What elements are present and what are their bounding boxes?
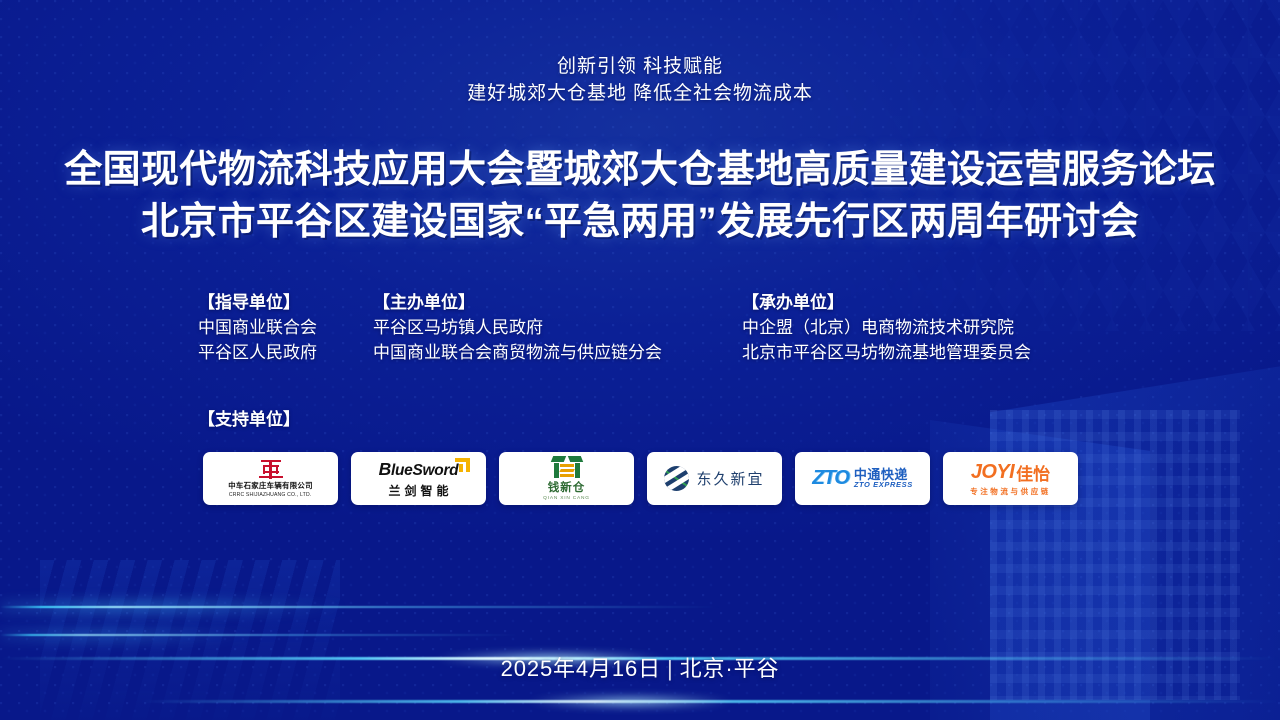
logo-text-bluesword-cn: 兰剑智能 [384,482,452,499]
logo-text-qianxincang-cn: 钱新仓 [548,479,586,495]
org-entry-host-1: 平谷区马坊镇人民政府 [373,315,662,340]
logo-text-dongjiu-cn: 东久新宜 [696,468,764,489]
tagline-line-1: 创新引领 科技赋能 [0,54,1280,80]
support-heading: 【支持单位】 [198,407,300,432]
tagline-block: 创新引领 科技赋能 建好城郊大仓基地 降低全社会物流成本 [0,54,1280,108]
org-entry-guidance-2: 平谷区人民政府 [198,340,317,365]
org-heading-organizer: 【承办单位】 [742,290,1031,315]
logo-text-bluesword-en: BlueSword [379,459,459,480]
org-column-guidance: 【指导单位】 中国商业联合会 平谷区人民政府 [198,290,317,365]
footer-date-location: 2025年4月16日|北京·平谷 [0,651,1280,683]
joyi-text-group: JOYI 佳怡 [971,460,1050,485]
logo-text-joyi-cn: 佳怡 [1016,460,1050,485]
logo-card-crrc-shijiazhuang[interactable]: 中车石家庄车辆有限公司 CRRC SHIJIAZHUANG CO., LTD. [203,452,338,505]
logo-text-zto-en: ZTO [812,467,849,490]
logo-card-zto-express[interactable]: ZTO 中通快递 ZTO EXPRESS [795,452,930,505]
org-entry-organizer-1: 中企盟（北京）电商物流技术研究院 [742,315,1031,340]
logo-text-qianxincang-en: QIAN XIN CANG [543,496,590,501]
org-heading-guidance: 【指导单位】 [198,290,317,315]
logo-text-joyi-sub: 专注物流与供应链 [970,486,1051,497]
dongjiu-globe-icon [664,466,689,491]
footer-location: 北京·平谷 [680,656,780,681]
tagline-line-2: 建好城郊大仓基地 降低全社会物流成本 [0,80,1280,108]
crrc-emblem-icon [259,460,283,479]
zto-text-group: 中通快递 ZTO EXPRESS [854,468,913,490]
support-logos-row: 中车石家庄车辆有限公司 CRRC SHIJIAZHUANG CO., LTD. … [203,452,1078,505]
logo-text-crrc-en: CRRC SHIJIAZHUANG CO., LTD. [229,492,312,498]
org-heading-host: 【主办单位】 [373,290,662,315]
org-entry-guidance-1: 中国商业联合会 [198,315,317,340]
footer-separator: | [661,656,680,681]
org-entry-host-2: 中国商业联合会商贸物流与供应链分会 [373,340,662,365]
logo-card-qianxincang[interactable]: 钱新仓 QIAN XIN CANG [499,452,634,505]
logo-text-crrc-cn: 中车石家庄车辆有限公司 [228,480,313,491]
logo-card-bluesword[interactable]: BlueSword 兰剑智能 [351,452,486,505]
title-line-2: 北京市平谷区建设国家“平急两用”发展先行区两周年研讨会 [0,196,1280,248]
page-title: 全国现代物流科技应用大会暨城郊大仓基地高质量建设运营服务论坛 北京市平谷区建设国… [0,144,1280,248]
org-entry-organizer-2: 北京市平谷区马坊物流基地管理委员会 [742,340,1031,365]
bluesword-chevron-icon [455,458,470,472]
logo-text-zto-cn: 中通快递 [854,468,913,482]
logo-card-joyi[interactable]: JOYI 佳怡 专注物流与供应链 [943,452,1078,505]
logo-card-dongjiu-xinyi[interactable]: 东久新宜 [647,452,782,505]
organizations-block: 【指导单位】 中国商业联合会 平谷区人民政府 【主办单位】 平谷区马坊镇人民政府… [0,290,1280,380]
footer-date: 2025年4月16日 [501,656,661,681]
title-line-1: 全国现代物流科技应用大会暨城郊大仓基地高质量建设运营服务论坛 [0,144,1280,196]
logo-text-zto-sub: ZTO EXPRESS [854,481,913,489]
qianxincang-warehouse-icon [552,456,582,478]
logo-text-joyi-en: JOYI [971,461,1014,484]
org-column-host: 【主办单位】 平谷区马坊镇人民政府 中国商业联合会商贸物流与供应链分会 [373,290,662,365]
org-column-organizer: 【承办单位】 中企盟（北京）电商物流技术研究院 北京市平谷区马坊物流基地管理委员… [742,290,1031,365]
